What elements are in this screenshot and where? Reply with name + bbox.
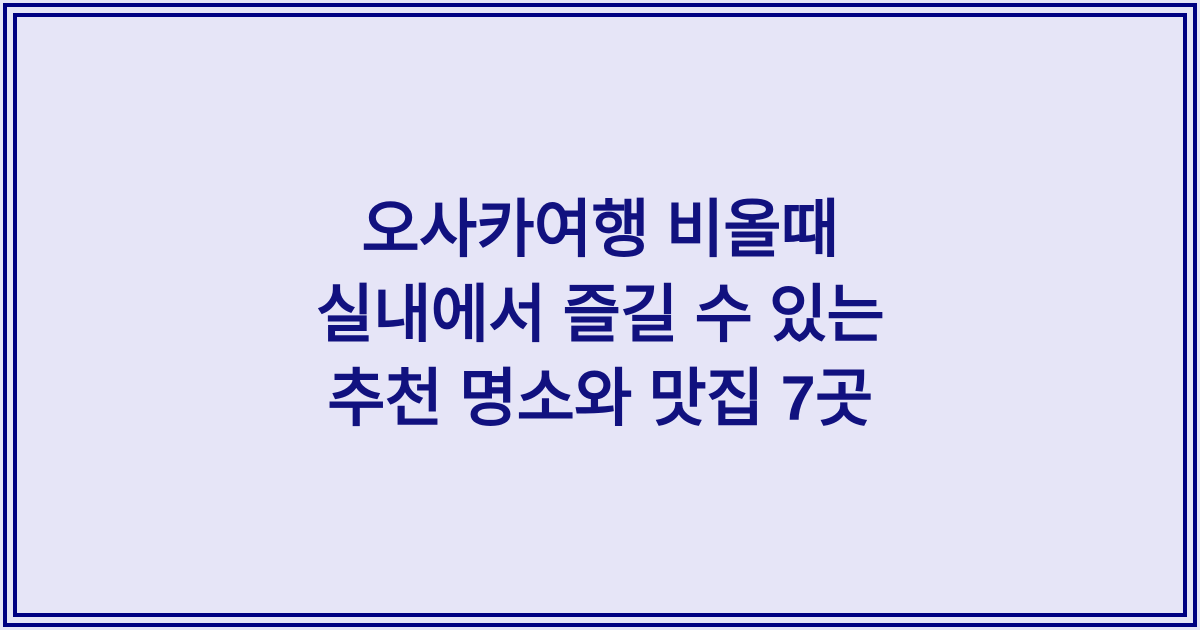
headline-container: 오사카여행 비올때 실내에서 즐길 수 있는 추천 명소와 맛집 7곳 <box>17 17 1183 613</box>
headline-line-2: 실내에서 즐길 수 있는 <box>57 273 1143 357</box>
page-title: 오사카여행 비올때 실내에서 즐길 수 있는 추천 명소와 맛집 7곳 <box>57 188 1143 441</box>
headline-line-1: 오사카여행 비올때 <box>57 188 1143 272</box>
thumbnail-card: 오사카여행 비올때 실내에서 즐길 수 있는 추천 명소와 맛집 7곳 <box>0 0 1200 630</box>
headline-line-3: 추천 명소와 맛집 7곳 <box>57 357 1143 441</box>
